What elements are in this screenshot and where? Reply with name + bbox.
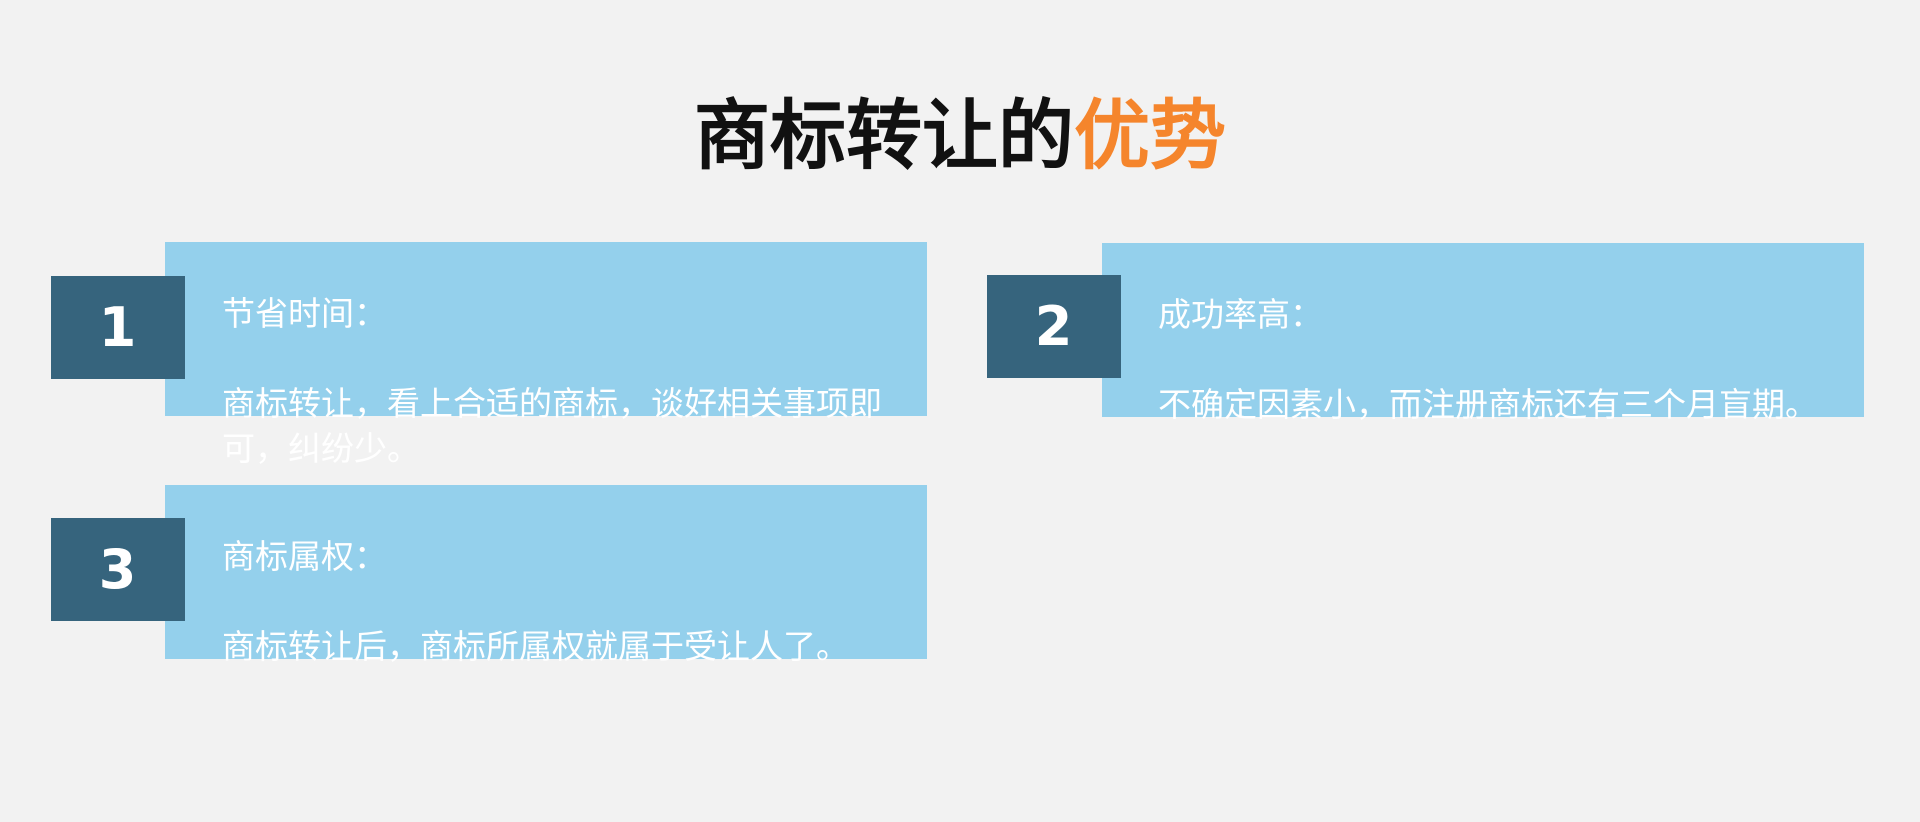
advantage-card-3-lead: 商标属权：: [222, 534, 922, 579]
advantage-card-3-number-box: 3: [51, 518, 185, 621]
advantage-card-2-number: 2: [1035, 300, 1074, 354]
advantage-card-3-number: 3: [99, 543, 138, 597]
advantage-card-3-desc: 商标转让后，商标所属权就属于受让人了。: [222, 624, 922, 669]
advantage-card-2: 2 成功率高： 不确定因素小，而注册商标还有三个月盲期。: [960, 0, 1920, 430]
advantage-card-3-text: 商标属权： 商标转让后，商标所属权就属于受让人了。: [222, 489, 922, 714]
advantage-card-3: 3 商标属权： 商标转让后，商标所属权就属于受让人了。: [0, 0, 940, 680]
advantage-card-2-desc: 不确定因素小，而注册商标还有三个月盲期。: [1158, 382, 1868, 427]
advantage-card-2-number-box: 2: [987, 275, 1121, 378]
advantage-card-2-text: 成功率高： 不确定因素小，而注册商标还有三个月盲期。: [1158, 247, 1868, 472]
slide-canvas: 商标转让的优势 1 节省时间： 商标转让，看上合适的商标，谈好相关事项即可，纠纷…: [0, 0, 1920, 822]
advantage-card-2-lead: 成功率高：: [1158, 292, 1868, 337]
